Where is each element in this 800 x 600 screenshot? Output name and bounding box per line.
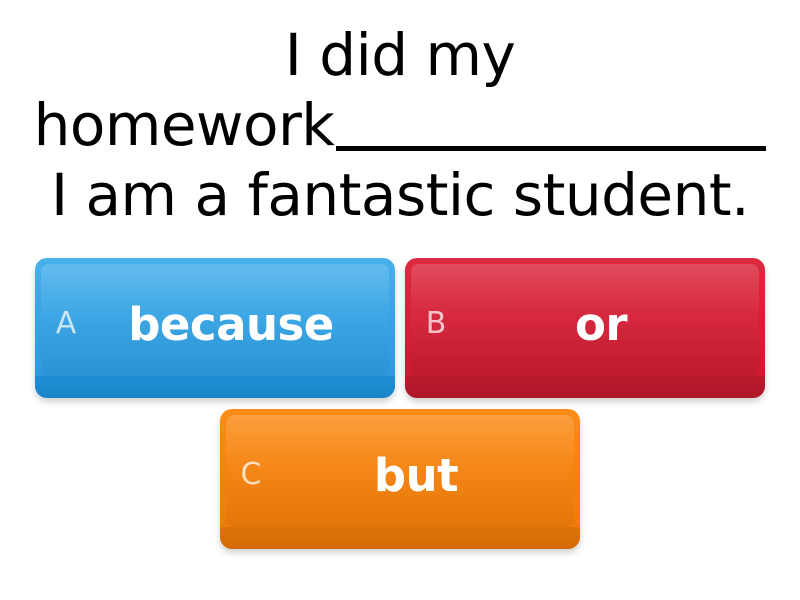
answer-row-1: A because B or [0,258,800,398]
question-line-2-text: homework [34,91,335,159]
answer-option-c[interactable]: C but [220,409,580,549]
answer-options: A because B or C but [0,258,800,549]
question-prompt: I did my homework I am a fantastic stude… [0,20,800,230]
answer-option-b[interactable]: B or [405,258,765,398]
answer-blank-line [336,146,766,151]
answer-letter-a: A [35,309,97,339]
question-line-3: I am a fantastic student. [0,160,800,230]
question-line-1: I did my [0,20,800,90]
answer-label-c: but [282,453,580,498]
answer-label-a: because [97,302,395,347]
answer-row-2: C but [0,409,800,549]
quiz-question-screen: I did my homework I am a fantastic stude… [0,0,800,600]
answer-option-a[interactable]: A because [35,258,395,398]
answer-letter-c: C [220,460,282,490]
question-line-2: homework [0,90,800,160]
answer-label-b: or [467,302,765,347]
answer-letter-b: B [405,309,467,339]
